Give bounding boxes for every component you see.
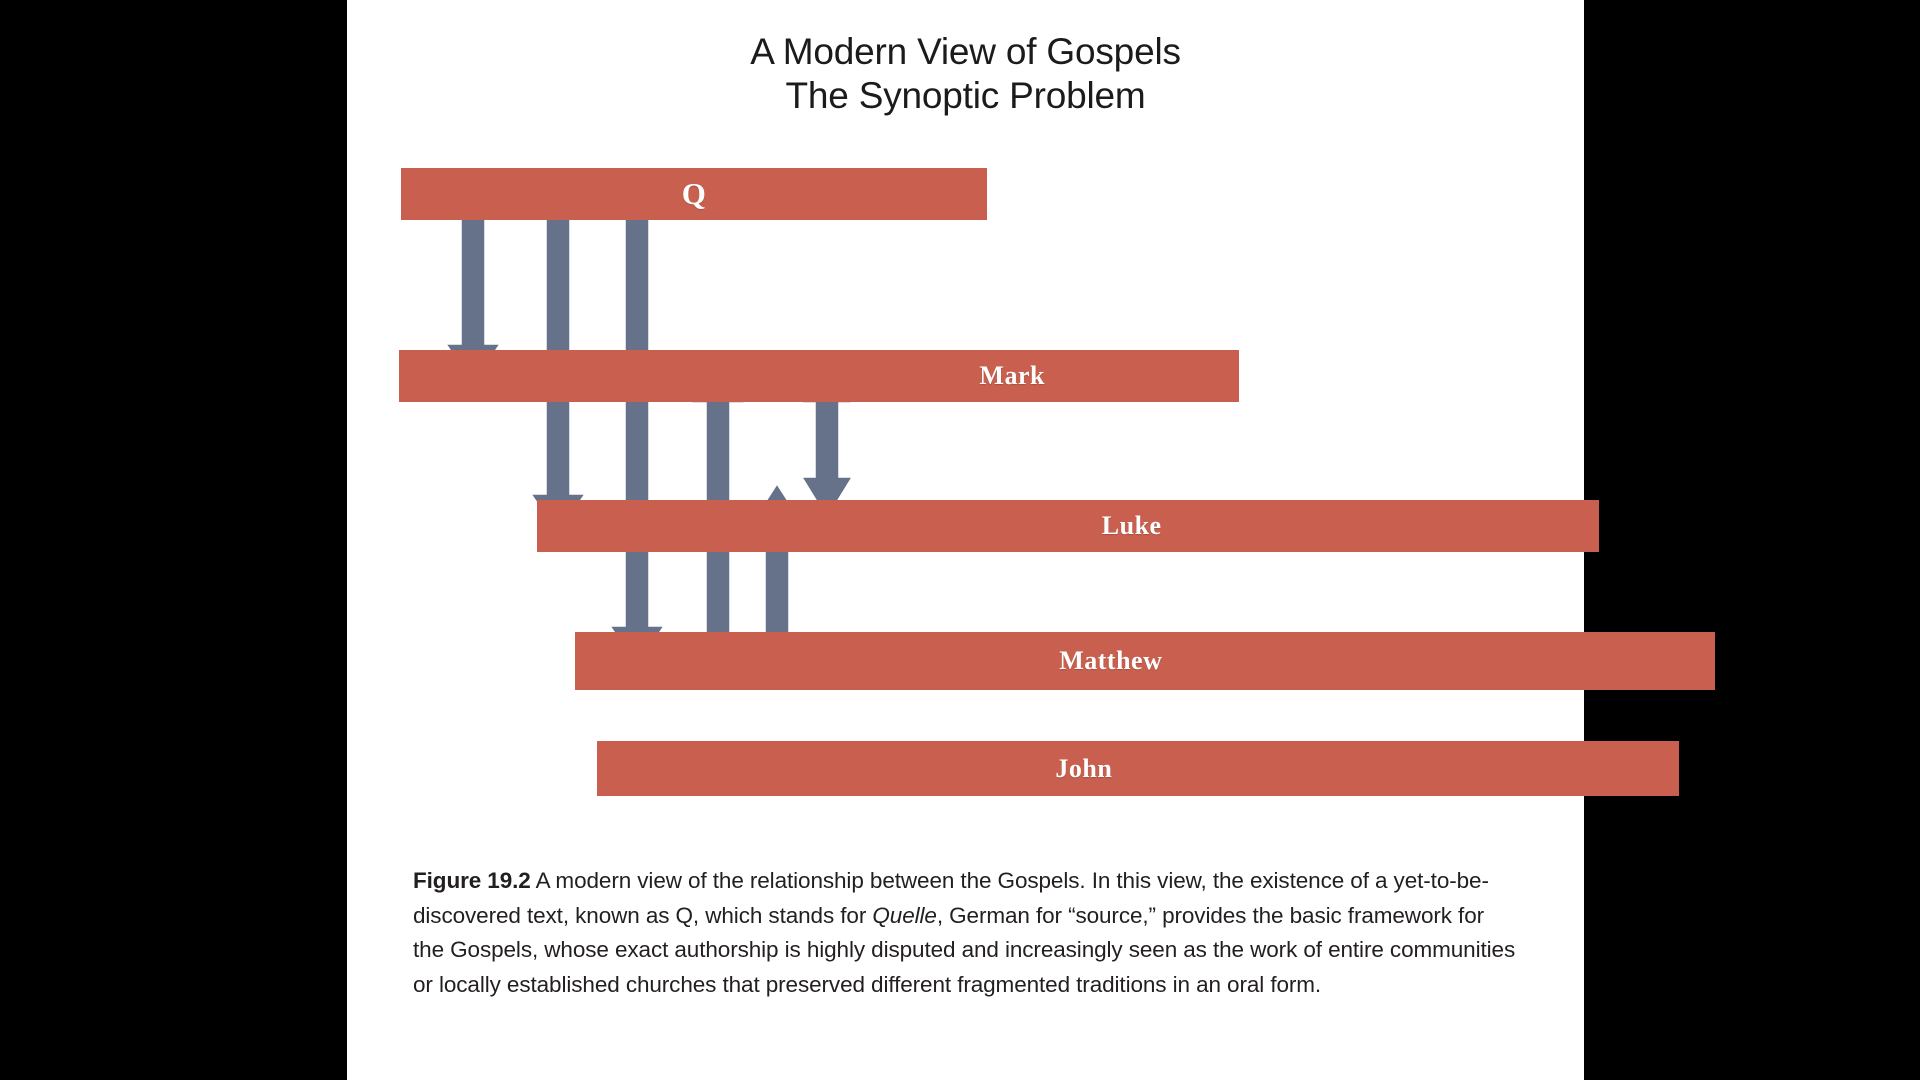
bar-label-mark: Mark (785, 361, 1239, 391)
bar-john[interactable]: John (597, 741, 1679, 796)
arrow-q-to-matthew (608, 205, 666, 667)
bar-label-q: Q (401, 176, 987, 212)
bar-q[interactable]: Q (401, 168, 987, 220)
bar-label-matthew: Matthew (803, 646, 1419, 676)
figure-caption: Figure 19.2 A modern view of the relatio… (413, 864, 1521, 1002)
bar-matthew[interactable]: Matthew (575, 632, 1715, 690)
bar-luke[interactable]: Luke (537, 500, 1599, 552)
bar-label-john: John (792, 754, 1376, 784)
screenshot-root: A Modern View of Gospels The Synoptic Pr… (0, 0, 1920, 1080)
bar-label-luke: Luke (845, 511, 1418, 541)
figure-page: A Modern View of Gospels The Synoptic Pr… (347, 0, 1584, 1080)
bar-mark[interactable]: Mark (399, 350, 1239, 402)
caption-italic-term: Quelle (872, 903, 936, 928)
caption-figure-number: Figure 19.2 (413, 868, 531, 893)
